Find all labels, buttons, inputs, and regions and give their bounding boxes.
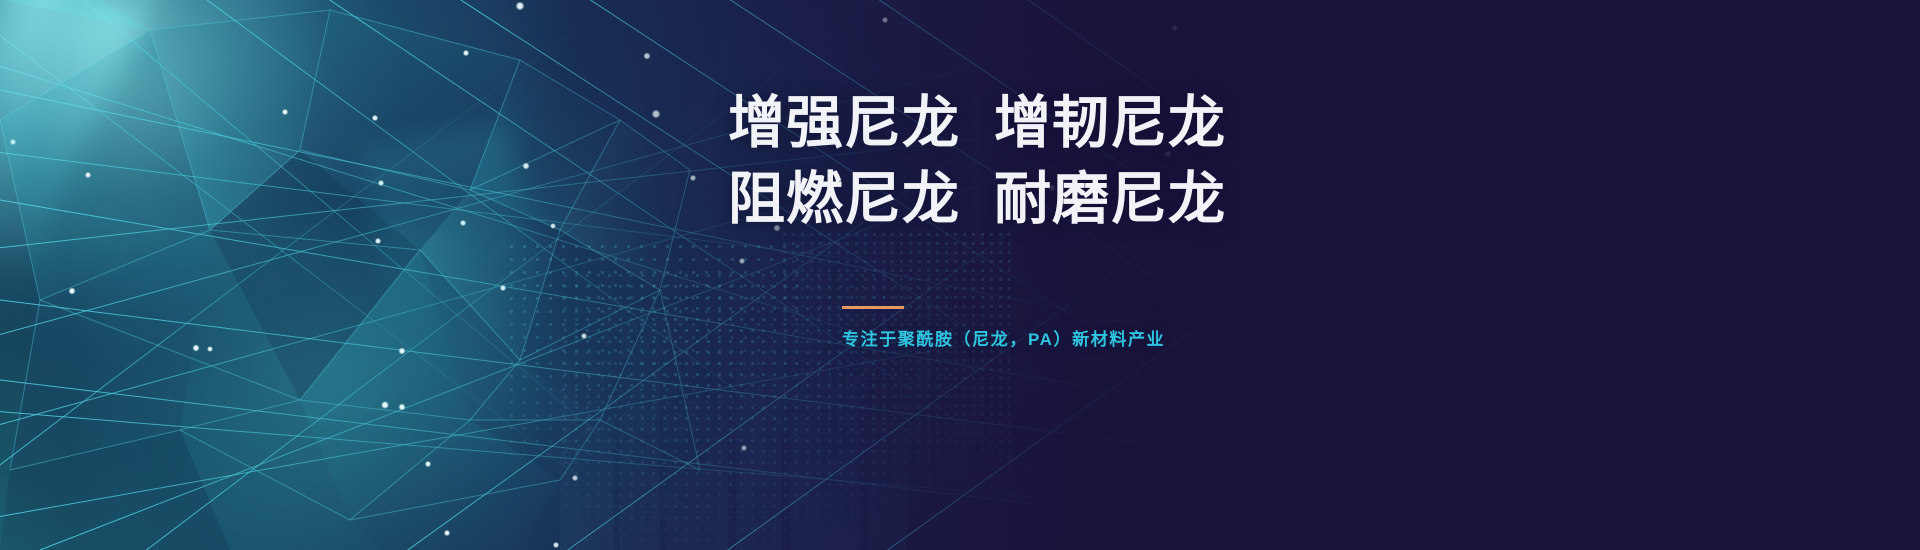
headline-line-1-right: 增韧尼龙 <box>994 91 1226 155</box>
headline-line-2-right: 耐磨尼龙 <box>994 167 1226 231</box>
headline-line-1-left: 增强尼龙 <box>728 91 960 155</box>
headline-line-1: 增强尼龙增韧尼龙 <box>728 86 1428 162</box>
accent-divider <box>842 306 904 309</box>
divider-wrapper <box>842 306 1428 309</box>
tagline: 专注于聚酰胺（尼龙，PA）新材料产业 <box>842 325 1428 350</box>
headline-line-2-left: 阻燃尼龙 <box>728 167 960 231</box>
hero-banner: 增强尼龙增韧尼龙 阻燃尼龙耐磨尼龙 专注于聚酰胺（尼龙，PA）新材料产业 <box>0 0 1920 550</box>
banner-content: 增强尼龙增韧尼龙 阻燃尼龙耐磨尼龙 专注于聚酰胺（尼龙，PA）新材料产业 <box>728 86 1428 350</box>
headline-line-2: 阻燃尼龙耐磨尼龙 <box>728 162 1428 238</box>
